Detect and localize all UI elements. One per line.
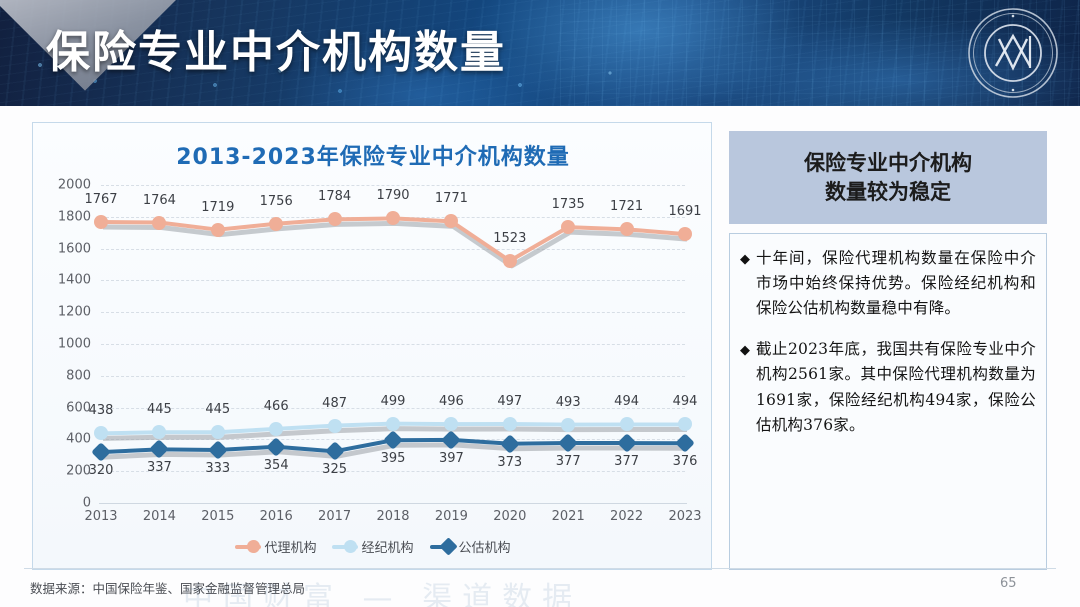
bullet-diamond-icon: ◆: [740, 340, 750, 360]
x-tick-label: 2023: [668, 509, 701, 524]
data-point-marker[interactable]: [211, 425, 225, 439]
legend-marker-swatch: [439, 537, 457, 555]
page-title: 保险专业中介机构数量: [46, 16, 506, 80]
legend-item[interactable]: 公估机构: [430, 537, 511, 556]
data-point-marker[interactable]: [269, 422, 283, 436]
x-axis-labels: 2013201420152016201720182019202020212022…: [101, 509, 685, 531]
legend-label: 公估机构: [459, 537, 511, 556]
legend-label: 代理机构: [264, 537, 316, 556]
data-point-marker[interactable]: [503, 417, 517, 431]
note-text: 截止2023年底，我国共有保险专业中介机构2561家。其中保险代理机构数量为16…: [756, 337, 1036, 437]
y-tick-label: 1400: [45, 273, 91, 288]
bullet-diamond-icon: ◆: [740, 249, 750, 269]
data-point-marker[interactable]: [94, 215, 108, 229]
note-item: ◆十年间，保险代理机构数量在保险中介市场中始终保持优势。保险经纪机构和保险公估机…: [740, 246, 1036, 321]
data-point-label: 1719: [201, 200, 234, 215]
data-point-marker[interactable]: [503, 254, 517, 268]
y-tick-label: 1200: [45, 305, 91, 320]
data-point-label: 377: [614, 454, 639, 469]
institute-emblem-logo: [966, 6, 1060, 100]
data-point-marker[interactable]: [386, 417, 400, 431]
data-point-label: 397: [439, 451, 464, 466]
data-point-marker[interactable]: [561, 418, 575, 432]
legend-item[interactable]: 代理机构: [235, 537, 316, 556]
data-point-label: 1767: [84, 192, 117, 207]
y-tick-label: 1000: [45, 337, 91, 352]
y-tick-label: 400: [45, 432, 91, 447]
footer-divider: [24, 568, 1056, 569]
callout-line-1: 保险专业中介机构: [804, 149, 972, 177]
data-point-label: 445: [205, 402, 230, 417]
x-tick-label: 2014: [143, 509, 176, 524]
notes-panel: ◆十年间，保险代理机构数量在保险中介市场中始终保持优势。保险经纪机构和保险公估机…: [729, 233, 1047, 570]
data-point-label: 1764: [143, 193, 176, 208]
data-point-marker[interactable]: [620, 417, 634, 431]
slide: 保险专业中介机构数量 2013-2023年保险专业中介机构数量 中国财富 — 渠…: [0, 0, 1080, 607]
data-point-label: 395: [381, 451, 406, 466]
chart-title: 2013-2023年保险专业中介机构数量: [33, 139, 713, 171]
data-point-label: 499: [381, 394, 406, 409]
data-point-label: 320: [89, 463, 114, 478]
x-tick-label: 2019: [435, 509, 468, 524]
data-point-label: 1721: [610, 199, 643, 214]
header-banner: 保险专业中介机构数量: [0, 0, 1080, 106]
data-point-label: 1735: [552, 197, 585, 212]
data-point-label: 325: [322, 462, 347, 477]
y-axis-labels: 0200400600800100012001400160018002000: [43, 185, 91, 503]
legend-marker-swatch: [247, 540, 260, 553]
data-point-marker[interactable]: [678, 417, 692, 431]
data-point-label: 493: [556, 395, 581, 410]
callout-text: 保险专业中介机构 数量较为稳定: [804, 149, 972, 206]
data-point-label: 337: [147, 460, 172, 475]
data-point-label: 494: [673, 394, 698, 409]
data-point-label: 373: [497, 455, 522, 470]
x-tick-label: 2018: [376, 509, 409, 524]
data-point-marker[interactable]: [269, 217, 283, 231]
data-point-label: 377: [556, 454, 581, 469]
data-point-label: 333: [205, 461, 230, 476]
y-tick-label: 1600: [45, 241, 91, 256]
plot-area: 1767176417191756178417901771152317351721…: [101, 185, 685, 503]
data-point-label: 496: [439, 394, 464, 409]
y-tick-label: 800: [45, 368, 91, 383]
legend-marker-swatch: [344, 540, 357, 553]
data-point-label: 438: [89, 403, 114, 418]
legend-item[interactable]: 经纪机构: [332, 537, 413, 556]
data-point-label: 354: [264, 458, 289, 473]
y-tick-label: 1800: [45, 209, 91, 224]
data-point-label: 1691: [668, 204, 701, 219]
data-source-text: 数据来源：中国保险年鉴、国家金融监督管理总局: [30, 578, 305, 597]
x-tick-label: 2013: [84, 509, 117, 524]
x-tick-label: 2020: [493, 509, 526, 524]
x-tick-label: 2022: [610, 509, 643, 524]
x-tick-label: 2021: [552, 509, 585, 524]
data-point-label: 466: [264, 399, 289, 414]
x-tick-label: 2016: [260, 509, 293, 524]
data-point-label: 1784: [318, 189, 351, 204]
data-point-marker[interactable]: [152, 216, 166, 230]
note-item: ◆截止2023年底，我国共有保险专业中介机构2561家。其中保险代理机构数量为1…: [740, 337, 1036, 437]
legend-label: 经纪机构: [361, 537, 413, 556]
page-number: 65: [1000, 576, 1017, 591]
y-tick-label: 600: [45, 400, 91, 415]
data-point-label: 1756: [260, 194, 293, 209]
data-point-marker[interactable]: [678, 227, 692, 241]
data-point-label: 487: [322, 396, 347, 411]
x-tick-label: 2017: [318, 509, 351, 524]
data-point-label: 376: [673, 454, 698, 469]
data-point-label: 445: [147, 402, 172, 417]
data-point-label: 497: [497, 394, 522, 409]
x-axis-line: [99, 503, 687, 504]
callout-line-2: 数量较为稳定: [804, 178, 972, 206]
data-point-marker[interactable]: [620, 222, 634, 236]
data-point-marker[interactable]: [328, 212, 342, 226]
data-point-label: 494: [614, 394, 639, 409]
data-point-marker[interactable]: [328, 419, 342, 433]
data-point-label: 1523: [493, 231, 526, 246]
data-point-label: 1790: [376, 188, 409, 203]
x-tick-label: 2015: [201, 509, 234, 524]
chart-legend: 代理机构经纪机构公估机构: [33, 537, 713, 556]
data-point-label: 1771: [435, 191, 468, 206]
y-tick-label: 200: [45, 464, 91, 479]
data-point-marker[interactable]: [211, 223, 225, 237]
chart-panel: 2013-2023年保险专业中介机构数量 中国财富 — 渠道数据 0200400…: [32, 122, 712, 570]
y-tick-label: 2000: [45, 178, 91, 193]
note-text: 十年间，保险代理机构数量在保险中介市场中始终保持优势。保险经纪机构和保险公估机构…: [756, 246, 1036, 321]
callout-box: 保险专业中介机构 数量较为稳定: [729, 131, 1047, 224]
